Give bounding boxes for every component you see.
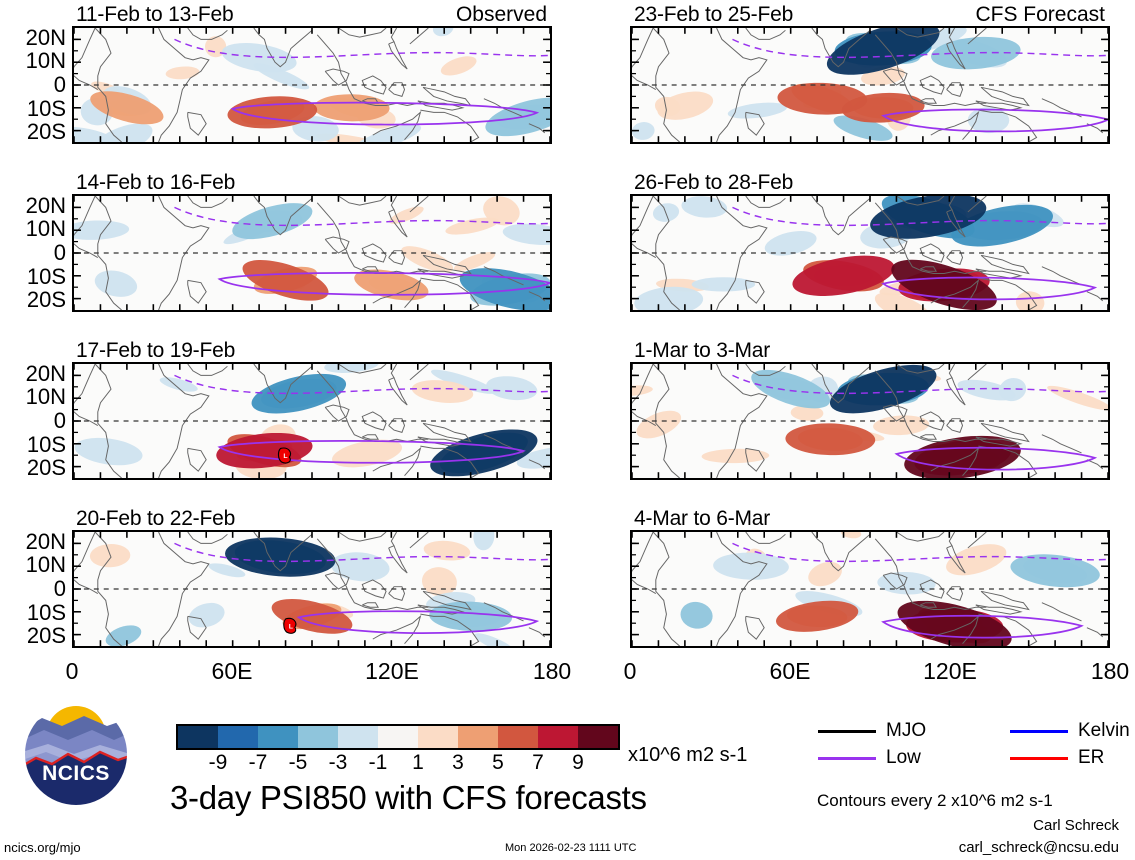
ncics-logo-text: NCICS — [22, 762, 130, 786]
panel-title: 26-Feb to 28-Feb — [634, 172, 793, 193]
author-email: carl_schreck@ncsu.edu — [959, 840, 1119, 855]
y-tick-label: 20N — [0, 531, 66, 553]
colorbar-swatch — [418, 726, 458, 748]
y-tick-label: 20N — [0, 363, 66, 385]
x-tick-label: 0 — [624, 660, 637, 683]
y-tick-label: 10S — [0, 434, 66, 456]
y-tick-label: 10N — [0, 50, 66, 72]
legend-label-kelvin-x2: Kelvin x2 — [1078, 721, 1135, 740]
x-tick-label: 120E — [365, 660, 419, 683]
ncics-logo-graphic — [22, 700, 130, 808]
map-plot-p7[interactable]: L — [72, 530, 552, 648]
colorbar-swatch — [458, 726, 498, 748]
colorbar-units-label: x10^6 m2 s-1 — [628, 745, 747, 765]
timestamp: Mon 2026-02-23 1111 UTC — [505, 843, 636, 854]
y-tick-label: 20S — [0, 625, 66, 647]
map-field: L — [74, 532, 550, 646]
y-tick-label: 0 — [0, 74, 66, 96]
y-tick-label: 10N — [0, 218, 66, 240]
x-tick-label: 60E — [770, 660, 811, 683]
map-field — [74, 28, 550, 142]
legend-label-low: Low — [886, 748, 921, 767]
panel-title: 11-Feb to 13-Feb — [76, 4, 234, 25]
colorbar-swatch — [378, 726, 418, 748]
colorbar-swatch — [498, 726, 538, 748]
colorbar-swatch — [578, 726, 618, 748]
map-plot-p5[interactable]: L — [72, 362, 552, 480]
map-plot-p6[interactable] — [630, 362, 1110, 480]
map-plot-p1[interactable] — [72, 26, 552, 144]
map-field: L — [74, 364, 550, 478]
colorbar-swatch — [218, 726, 258, 748]
y-tick-label: 20S — [0, 121, 66, 143]
y-tick-label: 0 — [0, 410, 66, 432]
y-tick-label: 20N — [0, 195, 66, 217]
map-field — [632, 364, 1108, 478]
panel-title: 1-Mar to 3-Mar — [634, 340, 770, 361]
colorbar-tick-label: 5 — [478, 752, 518, 773]
x-tick-label: 120E — [923, 660, 977, 683]
column-header-forecast: CFS Forecast — [975, 4, 1105, 25]
x-tick-label: 180 — [1091, 660, 1129, 683]
legend-line-er — [1010, 757, 1068, 760]
colorbar — [176, 724, 620, 750]
colorbar-swatch — [338, 726, 378, 748]
y-tick-label: 10N — [0, 386, 66, 408]
y-tick-label: 20S — [0, 289, 66, 311]
legend-line-low — [818, 757, 876, 760]
panel-title: 17-Feb to 19-Feb — [76, 340, 235, 361]
panel-title: 23-Feb to 25-Feb — [634, 4, 793, 25]
colorbar-tick-label: 3 — [438, 752, 478, 773]
x-tick-label: 180 — [533, 660, 571, 683]
map-field — [632, 196, 1108, 310]
colorbar-tick-label: -3 — [318, 752, 358, 773]
panel-title: 4-Mar to 6-Mar — [634, 508, 770, 529]
colorbar-tick-label: 7 — [518, 752, 558, 773]
site-url[interactable]: ncics.org/mjo — [4, 841, 81, 854]
map-plot-p8[interactable] — [630, 530, 1110, 648]
colorbar-tick-label: -7 — [238, 752, 278, 773]
x-tick-label: 60E — [212, 660, 253, 683]
x-tick-label: 0 — [66, 660, 79, 683]
colorbar-tick-label: -5 — [278, 752, 318, 773]
map-plot-p2[interactable] — [630, 26, 1110, 144]
panel-title: 14-Feb to 16-Feb — [76, 172, 235, 193]
colorbar-swatch — [538, 726, 578, 748]
colorbar-tick-label: 1 — [398, 752, 438, 773]
legend-label-mjo: MJO — [886, 721, 926, 740]
map-plot-p3[interactable] — [72, 194, 552, 312]
map-plot-p4[interactable] — [630, 194, 1110, 312]
svg-text:L: L — [283, 453, 287, 460]
y-tick-label: 10N — [0, 554, 66, 576]
colorbar-swatch — [178, 726, 218, 748]
map-field — [632, 532, 1108, 646]
y-tick-label: 0 — [0, 578, 66, 600]
legend-line-kelvin-x2 — [1010, 730, 1068, 733]
y-tick-label: 10S — [0, 266, 66, 288]
y-tick-label: 10S — [0, 98, 66, 120]
legend-label-er: ER — [1078, 748, 1104, 767]
y-tick-label: 0 — [0, 242, 66, 264]
page-title: 3-day PSI850 with CFS forecasts — [170, 781, 647, 814]
panel-title: 20-Feb to 22-Feb — [76, 508, 235, 529]
y-tick-label: 20S — [0, 457, 66, 479]
colorbar-tick-label: -9 — [198, 752, 238, 773]
svg-text:L: L — [289, 623, 293, 630]
colorbar-tick-label: 9 — [558, 752, 598, 773]
map-field — [632, 28, 1108, 142]
colorbar-tick-label: -1 — [358, 752, 398, 773]
colorbar-swatch — [298, 726, 338, 748]
column-header-observed: Observed — [456, 4, 547, 25]
ncics-logo[interactable]: NCICS — [22, 700, 130, 808]
map-field — [74, 196, 550, 310]
legend-line-mjo — [818, 730, 876, 733]
y-tick-label: 10S — [0, 602, 66, 624]
colorbar-swatch — [258, 726, 298, 748]
y-tick-label: 20N — [0, 27, 66, 49]
author-name: Carl Schreck — [1033, 818, 1119, 833]
contour-interval-note: Contours every 2 x10^6 m2 s-1 — [817, 792, 1053, 809]
